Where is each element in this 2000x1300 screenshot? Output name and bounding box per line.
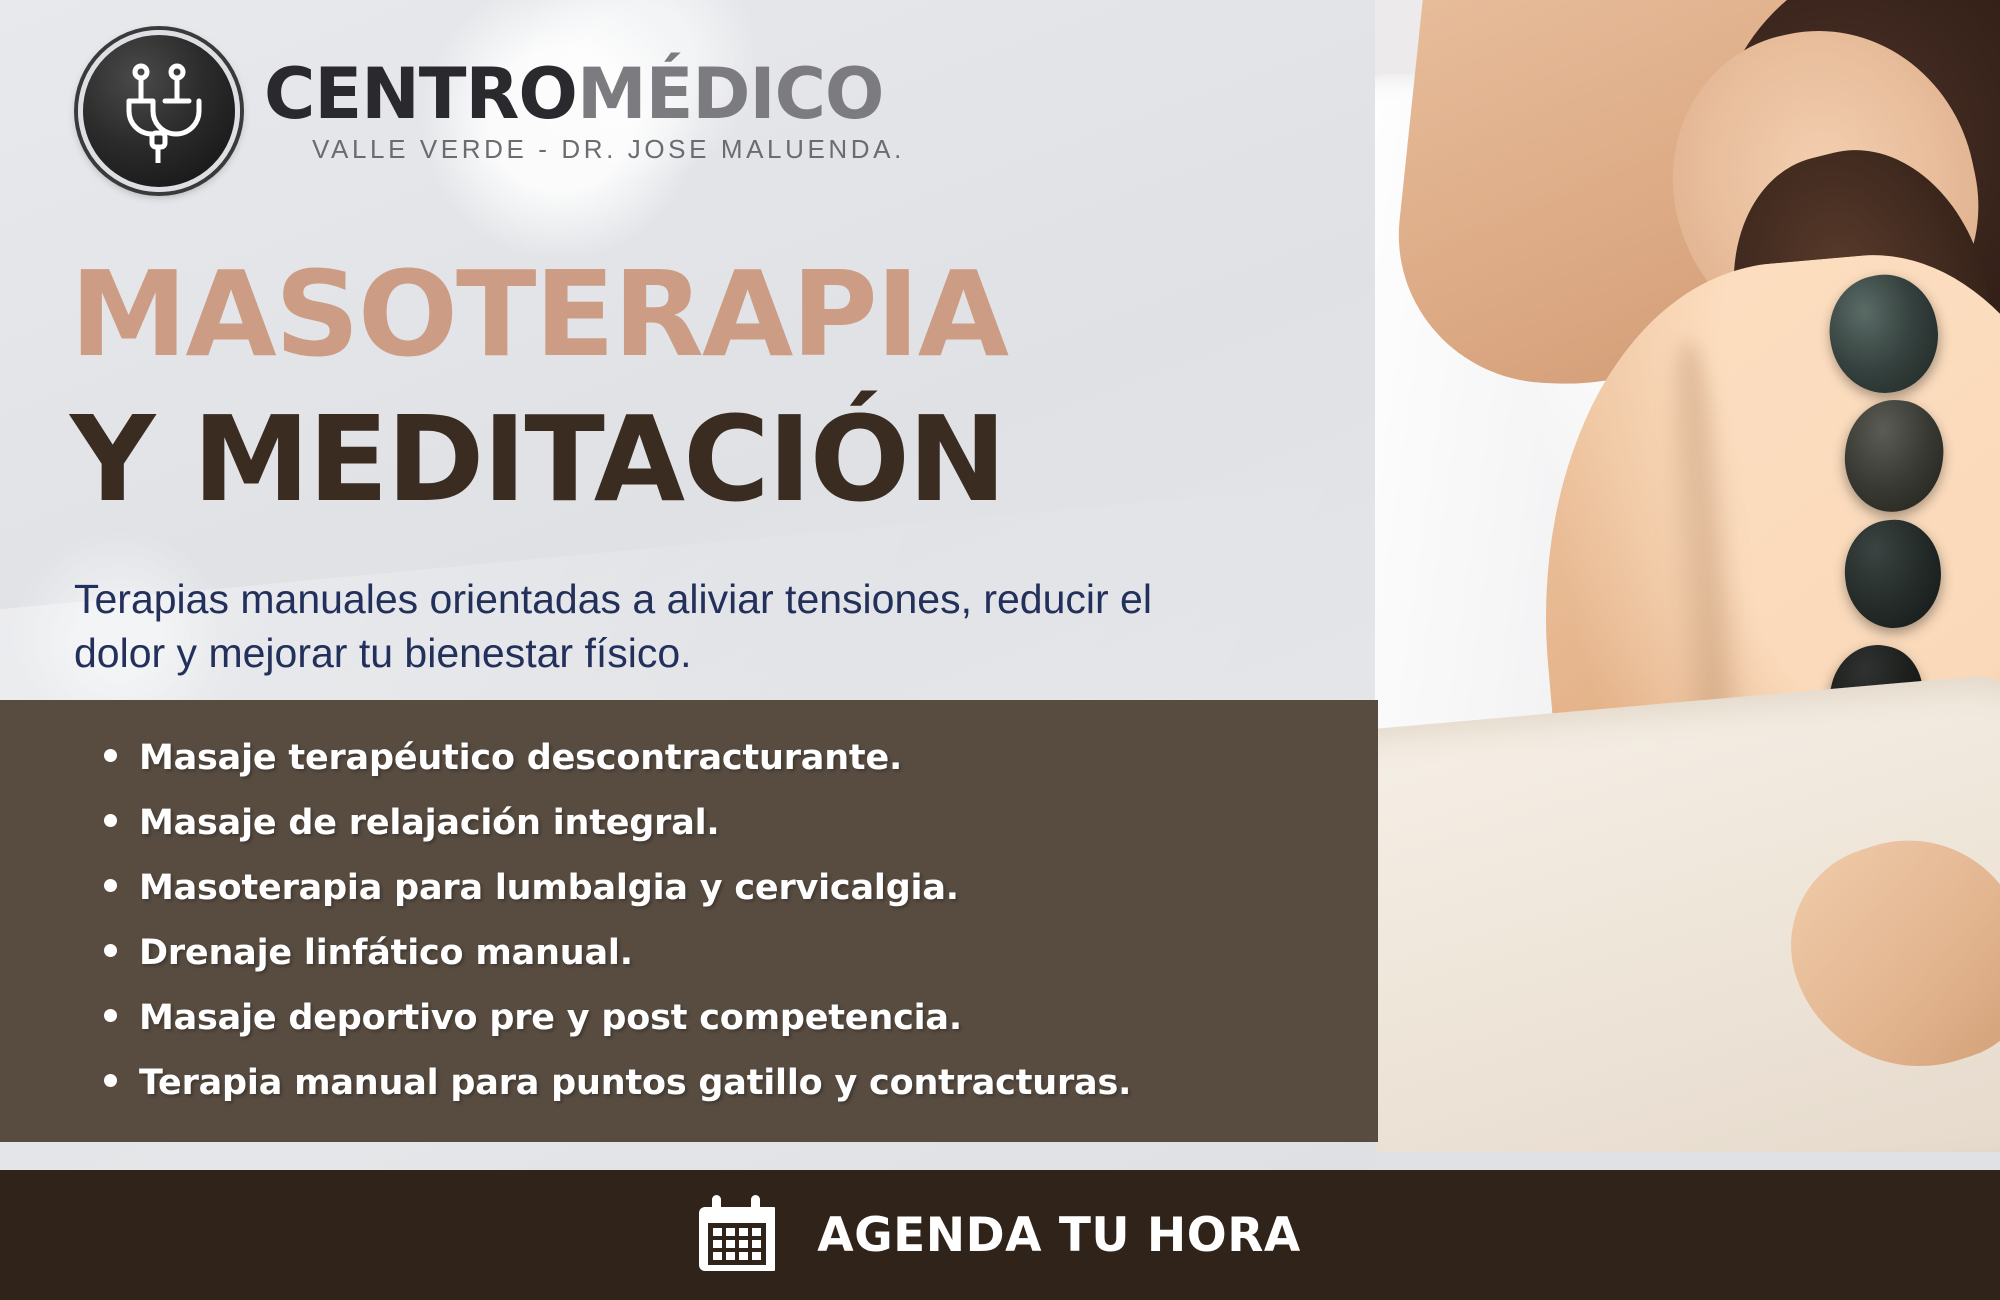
- brand-name: CENTROMÉDICO: [264, 61, 905, 128]
- brand-logo: CENTROMÉDICO VALLE VERDE - DR. JOSE MALU…: [78, 30, 905, 192]
- bullet-icon: [104, 1074, 117, 1087]
- brand-name-part2: MÉDICO: [577, 53, 884, 135]
- cta-bar[interactable]: AGENDA TU HORA: [0, 1170, 2000, 1300]
- list-item-label: Terapia manual para puntos gatillo y con…: [139, 1063, 1131, 1103]
- list-item: Terapia manual para puntos gatillo y con…: [104, 1063, 1334, 1103]
- list-item-label: Masaje deportivo pre y post competencia.: [139, 998, 962, 1038]
- list-item-label: Masoterapia para lumbalgia y cervicalgia…: [139, 868, 959, 908]
- list-item-label: Drenaje linfático manual.: [139, 933, 633, 973]
- photo-bottom-strip: [1375, 1152, 2000, 1170]
- bullet-icon: [104, 814, 117, 827]
- brand-name-part1: CENTRO: [264, 53, 577, 135]
- lede-paragraph: Terapias manuales orientadas a aliviar t…: [74, 572, 1254, 680]
- headline-line2: Y MEDITACIÓN: [70, 400, 1005, 518]
- list-item: Masoterapia para lumbalgia y cervicalgia…: [104, 868, 1334, 908]
- bullet-icon: [104, 944, 117, 957]
- services-list: Masaje terapéutico descontracturante. Ma…: [104, 738, 1334, 1128]
- calendar-icon: [699, 1193, 775, 1278]
- list-item: Masaje deportivo pre y post competencia.: [104, 998, 1334, 1038]
- headline-line1: MASOTERAPIA: [70, 255, 1007, 373]
- services-panel: Masaje terapéutico descontracturante. Ma…: [0, 700, 1378, 1142]
- list-item: Masaje de relajación integral.: [104, 803, 1334, 843]
- bullet-icon: [104, 749, 117, 762]
- list-item-label: Masaje terapéutico descontracturante.: [139, 738, 902, 778]
- list-item-label: Masaje de relajación integral.: [139, 803, 720, 843]
- stethoscope-icon: [78, 30, 240, 192]
- list-item: Drenaje linfático manual.: [104, 933, 1334, 973]
- bullet-icon: [104, 879, 117, 892]
- cta-label: AGENDA TU HORA: [817, 1208, 1301, 1263]
- poster: CENTROMÉDICO VALLE VERDE - DR. JOSE MALU…: [0, 0, 2000, 1300]
- bullet-icon: [104, 1009, 117, 1022]
- hot-stone-massage-photo: [1375, 0, 2000, 1170]
- brand-tagline: VALLE VERDE - DR. JOSE MALUENDA.: [312, 134, 905, 165]
- list-item: Masaje terapéutico descontracturante.: [104, 738, 1334, 778]
